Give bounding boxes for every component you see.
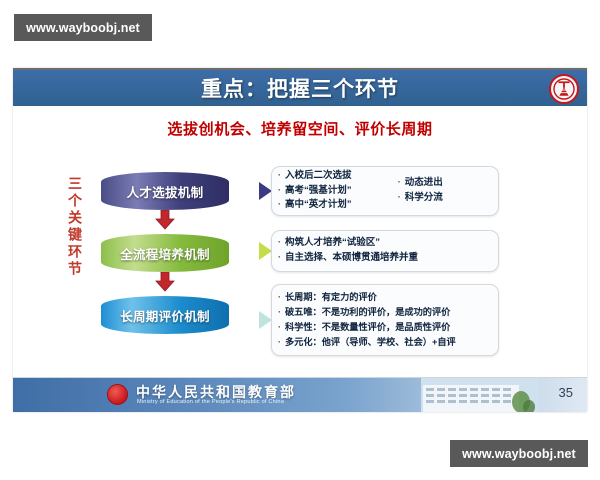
stage-cylinder-full-process-cultivation[interactable]: 全流程培养机制 (101, 234, 229, 272)
panel-column-right: · 动态进出 · 科学分流 (398, 171, 496, 211)
list-item: · 长周期：有定力的评价 (278, 290, 496, 305)
list-item-label: 长周期：有定力的评价 (285, 290, 377, 304)
presentation-slide: 重点：把握三个环节 选拔创机会、培养留空间、评价长周期 三个关键环节 人才选拔机… (13, 68, 587, 412)
slide-footer: 中华人民共和国教育部 Ministry of Education of the … (13, 378, 587, 412)
watermark-top-text: www.wayboobj.net (26, 21, 140, 35)
list-item-label: 动态进出 (405, 176, 443, 191)
panel-column-left: · 长周期：有定力的评价 · 破五唯：不是功利的评价，是成功的评价 · 科学性：… (278, 289, 496, 351)
list-item: · 科学性：不是数量性评价，是品质性评价 (278, 320, 496, 335)
national-emblem-icon (107, 384, 128, 405)
list-item: · 多元化：他评（导师、学校、社会）+自评 (278, 335, 496, 350)
list-item-label: 多元化：他评（导师、学校、社会）+自评 (285, 335, 456, 349)
detail-panel-full-process-cultivation: · 构筑人才培养“试验区” · 自主选择、本硕博贯通培养并重 (271, 230, 499, 272)
slide-body: 人才选拔机制 全流程培养机制 长周期评价机制 (13, 148, 587, 376)
list-item-label: 科学性：不是数量性评价，是品质性评价 (285, 320, 450, 334)
stage-label: 长周期评价机制 (120, 306, 210, 325)
slide-subtitle: 选拔创机会、培养留空间、评价长周期 (13, 118, 587, 139)
list-item-label: 自主选择、本硕博贯通培养并重 (285, 251, 418, 266)
list-item: · 入校后二次选拔 (278, 169, 398, 184)
stage-cylinder-long-cycle-evaluation[interactable]: 长周期评价机制 (101, 296, 229, 334)
list-item: · 科学分流 (398, 191, 496, 206)
bullet-dot-icon: · (278, 251, 281, 265)
bullet-dot-icon: · (278, 198, 281, 212)
list-item: · 破五唯：不是功利的评价，是成功的评价 (278, 305, 496, 320)
panel-column-left: · 构筑人才培养“试验区” · 自主选择、本硕博贯通培养并重 (278, 235, 496, 267)
list-item: · 高考“强基计划” (278, 184, 398, 199)
list-item: · 动态进出 (398, 176, 496, 191)
detail-panel-talent-selection: · 入校后二次选拔 · 高考“强基计划” · 高中“英才计划” · (271, 166, 499, 216)
watermark-bottom-text: www.wayboobj.net (462, 447, 576, 461)
bullet-dot-icon: · (278, 306, 281, 320)
bullet-dot-icon: · (398, 176, 401, 190)
watermark-bottom: www.wayboobj.net (450, 440, 588, 467)
list-item: · 构筑人才培养“试验区” (278, 236, 496, 251)
down-arrow-icon-1 (154, 210, 176, 230)
ministry-seal-icon (549, 74, 579, 104)
bullet-dot-icon: · (398, 191, 401, 205)
bullet-dot-icon: · (278, 184, 281, 198)
list-item: · 自主选择、本硕博贯通培养并重 (278, 251, 496, 266)
stage-cylinder-talent-selection[interactable]: 人才选拔机制 (101, 172, 229, 210)
slide-title: 重点：把握三个环节 (13, 73, 587, 103)
list-item-label: 高中“英才计划” (285, 198, 352, 213)
ministry-name-en: Ministry of Education of the People's Re… (137, 399, 284, 405)
list-item-label: 构筑人才培养“试验区” (285, 236, 380, 251)
list-item-label: 入校后二次选拔 (285, 169, 352, 184)
list-item-label: 科学分流 (405, 191, 443, 206)
watermark-top: www.wayboobj.net (14, 14, 152, 41)
down-arrow-icon-2 (154, 272, 176, 292)
page-number: 35 (559, 385, 573, 400)
stage-label: 全流程培养机制 (120, 244, 210, 263)
stage-label: 人才选拔机制 (127, 182, 204, 201)
bullet-dot-icon: · (278, 169, 281, 183)
detail-panel-long-cycle-evaluation: · 长周期：有定力的评价 · 破五唯：不是功利的评价，是成功的评价 · 科学性：… (271, 284, 499, 356)
list-item-label: 高考“强基计划” (285, 184, 352, 199)
list-item: · 高中“英才计划” (278, 198, 398, 213)
bullet-dot-icon: · (278, 321, 281, 335)
panel-column-left: · 入校后二次选拔 · 高考“强基计划” · 高中“英才计划” (278, 171, 398, 211)
bullet-dot-icon: · (278, 236, 281, 250)
bullet-dot-icon: · (278, 336, 281, 350)
bullet-dot-icon: · (278, 291, 281, 305)
slide-title-band: 重点：把握三个环节 (13, 68, 587, 106)
ministry-building-photo (421, 378, 539, 412)
list-item-label: 破五唯：不是功利的评价，是成功的评价 (285, 305, 450, 319)
